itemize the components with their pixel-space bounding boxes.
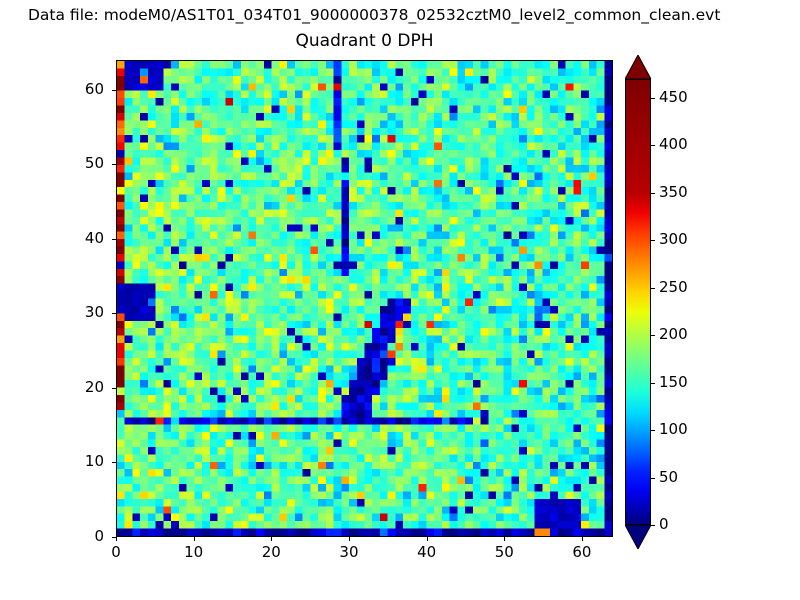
figure-canvas: Data file: modeM0/AS1T01_034T01_90000003… [0, 0, 800, 600]
colorbar-tick-mark [651, 430, 655, 431]
x-tick-mark [504, 537, 505, 541]
x-tick-label: 0 [86, 544, 146, 561]
x-tick-mark [116, 537, 117, 541]
colorbar-tick-label: 150 [659, 374, 719, 391]
y-tick-mark [112, 388, 116, 389]
colorbar-tick-mark [651, 383, 655, 384]
page-title: Quadrant 0 DPH [116, 30, 613, 52]
colorbar-tick-mark [651, 335, 655, 336]
y-tick-label: 60 [44, 81, 104, 98]
y-tick-label: 50 [44, 155, 104, 172]
colorbar-tick-mark [651, 525, 655, 526]
y-tick-mark [112, 164, 116, 165]
x-tick-label: 10 [164, 544, 224, 561]
colorbar-tick-label: 450 [659, 89, 719, 106]
heatmap-image[interactable] [117, 61, 612, 536]
colorbar-tick-label: 100 [659, 421, 719, 438]
colorbar-tick-mark [651, 478, 655, 479]
colorbar-tick-mark [651, 288, 655, 289]
colorbar-tick-label: 400 [659, 136, 719, 153]
y-tick-mark [112, 90, 116, 91]
y-tick-label: 0 [44, 528, 104, 545]
colorbar-tick-mark [651, 145, 655, 146]
x-tick-mark [427, 537, 428, 541]
heatmap-axes[interactable] [116, 60, 613, 537]
colorbar-tick-mark [651, 98, 655, 99]
y-tick-mark [112, 313, 116, 314]
y-tick-mark [112, 239, 116, 240]
colorbar-tick-label: 50 [659, 469, 719, 486]
x-tick-label: 40 [397, 544, 457, 561]
colorbar[interactable] [625, 79, 651, 525]
x-tick-mark [194, 537, 195, 541]
x-tick-mark [349, 537, 350, 541]
x-tick-label: 50 [474, 544, 534, 561]
colorbar-tick-label: 350 [659, 184, 719, 201]
colorbar-extend-low-arrow [625, 525, 651, 549]
colorbar-tick-mark [651, 240, 655, 241]
y-tick-label: 30 [44, 304, 104, 321]
x-tick-mark [271, 537, 272, 541]
y-tick-mark [112, 462, 116, 463]
y-tick-label: 20 [44, 379, 104, 396]
y-tick-label: 40 [44, 230, 104, 247]
colorbar-tick-label: 0 [659, 516, 719, 533]
x-tick-mark [582, 537, 583, 541]
colorbar-tick-label: 300 [659, 231, 719, 248]
y-tick-mark [112, 537, 116, 538]
x-tick-label: 20 [241, 544, 301, 561]
colorbar-tick-label: 200 [659, 326, 719, 343]
x-tick-label: 30 [319, 544, 379, 561]
colorbar-extend-high-arrow [625, 55, 651, 79]
y-tick-label: 10 [44, 453, 104, 470]
colorbar-gradient [625, 79, 651, 525]
colorbar-tick-mark [651, 193, 655, 194]
colorbar-tick-label: 250 [659, 279, 719, 296]
data-file-label: Data file: modeM0/AS1T01_034T01_90000003… [28, 6, 788, 24]
x-tick-label: 60 [552, 544, 612, 561]
